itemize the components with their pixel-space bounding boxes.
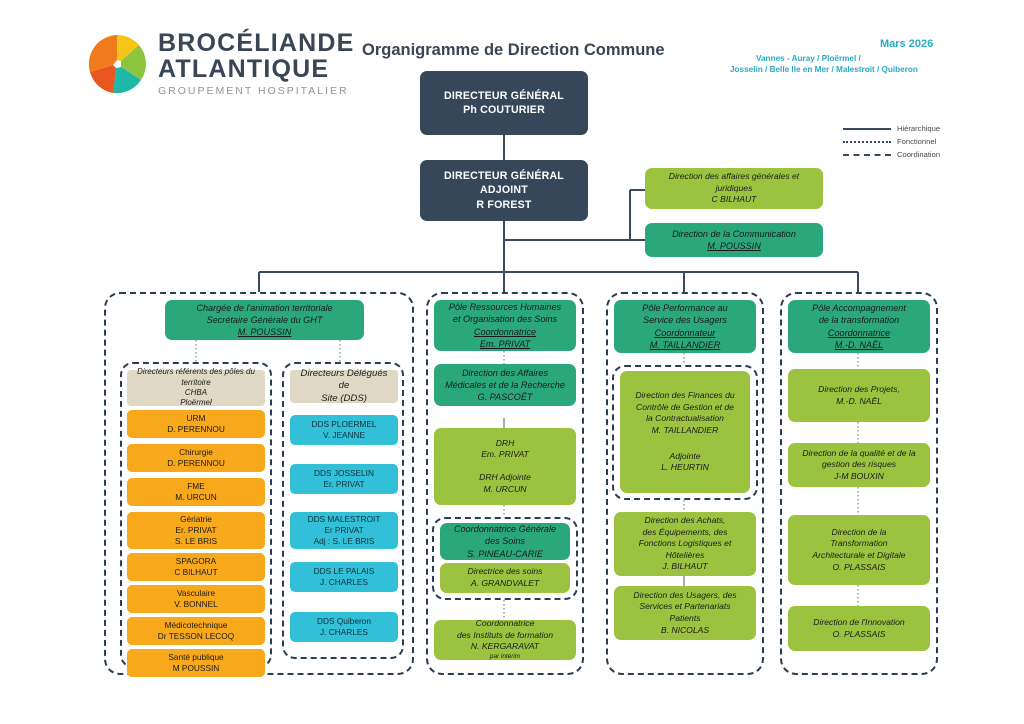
box-direction-finances[interactable]: Direction des Finances du Contrôle de Ge… [620,371,750,493]
box-dds-ploermel[interactable]: DDS PLOERMEL V. JEANNE [290,415,398,445]
dds2-l1: DDS MALESTROIT [294,514,394,525]
fin-spacer [624,437,746,451]
legend-label: Fonctionnel [897,137,936,146]
inst-l3: N. KERGARAVAT [438,641,572,653]
sites-line-2: Josselin / Belle Ile en Mer / Malestroit… [730,65,918,74]
box-direction-affaires-medicales[interactable]: Direction des Affaires Médicales et de l… [434,364,576,406]
c4-2-l2: Transformation [792,538,926,550]
dga-title-1: DIRECTEUR GÉNÉRAL [424,169,584,183]
page-title: Organigramme de Direction Commune [362,41,665,60]
fin-l2: Contrôle de Gestion et de [624,402,746,414]
logo-line-3: GROUPEMENT HOSPITALIER [158,86,355,97]
box-pole-performance-usagers[interactable]: Pôle Performance au Service des Usagers … [614,300,756,353]
col1-head-3: M. POUSSIN [169,326,360,338]
col3-head-2: Service des Usagers [618,314,752,326]
box-referent-urm[interactable]: URM D. PERENNOU [127,410,265,438]
ref5-l1: Vasculaire [131,588,261,599]
staff0-line1: Direction des affaires générales et [649,171,819,183]
ach-l2: des Équipements, des [618,527,752,539]
legend-item-coordination: Coordination [843,148,1018,161]
legend-item-fonctionnel: Fonctionnel [843,135,1018,148]
ref5-l2: V. BONNEL [131,599,261,610]
dds0-l1: DDS PLOERMEL [294,419,394,430]
box-directeur-general[interactable]: DIRECTEUR GÉNÉRAL Ph COUTURIER [420,71,588,135]
soins0-l1: Coordonnatrice Générale [444,523,566,535]
dds4-l1: DDS Quiberon [294,616,394,627]
ach-l3: Fonctions Logistiques et [618,538,752,550]
soins0-l2: des Soins [444,535,566,547]
usa-l4: B. NICOLAS [618,625,752,637]
legend-label: Coordination [897,150,940,159]
dds4-l2: J. CHARLES [294,627,394,638]
c4-1-l1: Direction de la qualité et de la [792,448,926,460]
ref4-l1: SPAGORA [131,556,261,567]
col2-dam-3: G. PASCOËT [438,391,572,403]
col2-dam-1: Direction des Affaires [438,367,572,379]
box-referent-geriatrie[interactable]: Gériatrie Er. PRIVAT S. LE BRIS [127,512,265,549]
c4-0-l1: Direction des Projets, [792,384,926,396]
c4-3-l1: Direction de l'Innovation [792,617,926,629]
staff1-name: M. POUSSIN [649,240,819,252]
ref-col-left: CHBA [137,388,255,398]
ref7-l2: M POUSSIN [131,663,261,674]
box-affaires-generales-juridiques[interactable]: Direction des affaires générales et juri… [645,168,823,209]
fin-l3: la Contractualisation [624,413,746,425]
staff0-line2: juridiques [649,183,819,195]
fin-l6: L. HEURTIN [624,462,746,474]
legend: Hiérarchique Fonctionnel Coordination [843,122,1018,161]
box-referent-sante-publique[interactable]: Santé publique M POUSSIN [127,649,265,677]
col4-head-2: de la transformation [792,314,926,326]
dds0-l2: V. JEANNE [294,430,394,441]
dga-name: R FOREST [424,198,584,212]
staff1-line1: Direction de la Communication [649,228,819,240]
dg-title: DIRECTEUR GÉNÉRAL [424,89,584,103]
legend-label: Hiérarchique [897,124,940,133]
inst-l2: des Instituts de formation [438,630,572,642]
box-dds-le-palais[interactable]: DDS LE PALAIS J. CHARLES [290,562,398,592]
dg-name: Ph COUTURIER [424,103,584,117]
c4-2-l1: Direction de la [792,527,926,539]
soins1-l2: A. GRANDVALET [444,578,566,590]
dga-title-2: ADJOINT [424,183,584,197]
col4-head-3: Coordonnatrice [792,327,926,339]
box-direction-innovation[interactable]: Direction de l'Innovation O. PLASSAIS [788,606,930,651]
ach-l1: Direction des Achats, [618,515,752,527]
col2-dam-2: Médicales et de la Recherche [438,379,572,391]
legend-item-hierarchique: Hiérarchique [843,122,1018,135]
box-drh[interactable]: DRH Em. PRIVAT DRH Adjointe M. URCUN [434,428,576,505]
logo-line-1: BROCÉLIANDE [158,31,355,56]
ref6-l2: Dr TESSON LECOQ [131,631,261,642]
soins0-l3: S. PINEAU-CARIE [444,548,566,560]
box-referent-spagora[interactable]: SPAGORA C BILHAUT [127,553,265,581]
box-pole-accompagnement-transformation[interactable]: Pôle Accompagnement de la transformation… [788,300,930,353]
col2-head-1: Pôle Ressources Humaines [438,301,572,313]
dds1-l2: Er. PRIVAT [294,479,394,490]
flower-wheel-logo-icon [86,33,148,95]
box-chargee-animation-territoriale[interactable]: Chargée de l'animation territoriale Secr… [165,300,364,340]
dds2-l2: Er PRIVAT [294,525,394,536]
drh-spacer [438,461,572,472]
ref0-l2: D. PERENNOU [131,424,261,435]
col2-drh-3: DRH Adjointe [438,472,572,484]
col2-head-3: Coordonnatrice [438,326,572,338]
box-direction-qualite-risques[interactable]: Direction de la qualité et de la gestion… [788,443,930,487]
box-directrice-des-soins[interactable]: Directrice des soins A. GRANDVALET [440,563,570,593]
box-coordonnatrice-generale-soins[interactable]: Coordonnatrice Générale des Soins S. PIN… [440,523,570,560]
fin-l5: Adjointe [624,451,746,463]
col1-head-1: Chargée de l'animation territoriale [169,302,360,314]
ref3-l3: S. LE BRIS [131,536,261,547]
directeurs-referents-header: Directeurs référents des pôles du territ… [127,370,265,406]
box-referent-fme[interactable]: FME M. URCUN [127,478,265,506]
usa-l1: Direction des Usagers, des [618,590,752,602]
inst-l3-suffix: par intérim [438,653,572,662]
box-direction-transformation-architecturale[interactable]: Direction de la Transformation Architect… [788,515,930,585]
box-referent-medicotechnique[interactable]: Médicotechnique Dr TESSON LECOQ [127,617,265,645]
ach-l4: Hôtelières [618,550,752,562]
date-label: Mars 2026 [880,38,933,50]
box-coordonnatrice-instituts-formation[interactable]: Coordonnatrice des Instituts de formatio… [434,620,576,660]
soins1-l1: Directrice des soins [444,566,566,578]
dds-title-1: Directeurs Délégués de [294,368,394,393]
c4-2-l3: Architecturale et Digitale [792,550,926,562]
box-dds-quiberon[interactable]: DDS Quiberon J. CHARLES [290,612,398,642]
col4-head-4: M.-D. NAËL [792,339,926,351]
ref1-l1: Chirurgie [131,447,261,458]
c4-1-l2: gestion des risques [792,459,926,471]
ref-col-right: Ploërmel [137,398,255,408]
c4-0-l2: M.-D. NAËL [792,396,926,408]
ref2-l2: M. URCUN [131,492,261,503]
usa-l2: Services et Partenariats [618,601,752,613]
logo-line-2: ATLANTIQUE [158,57,355,82]
fin-l4: M. TAILLANDIER [624,425,746,437]
staff0-name: C BILHAUT [649,194,819,206]
usa-l3: Patients [618,613,752,625]
box-direction-communication[interactable]: Direction de la Communication M. POUSSIN [645,223,823,257]
ref6-l1: Médicotechnique [131,620,261,631]
box-dds-josselin[interactable]: DDS JOSSELIN Er. PRIVAT [290,464,398,494]
ach-l5: J. BILHAUT [618,561,752,573]
ref3-l2: Er. PRIVAT [131,525,261,536]
sites-line-1: Vannes - Auray / Ploërmel / [756,54,861,63]
dotted-line-icon [843,137,891,147]
dds3-l1: DDS LE PALAIS [294,566,394,577]
dds2-l3: Adj : S. LE BRIS [294,536,394,547]
dds-title-2: Site (DDS) [294,393,394,405]
box-direction-projets[interactable]: Direction des Projets, M.-D. NAËL [788,369,930,422]
box-pole-ressources-humaines[interactable]: Pôle Ressources Humaines et Organisation… [434,300,576,351]
ref1-l2: D. PERENNOU [131,458,261,469]
ref2-l1: FME [131,481,261,492]
col3-head-3: Coordonnateur [618,327,752,339]
col2-drh-1: DRH [438,438,572,450]
box-direction-achats[interactable]: Direction des Achats, des Équipements, d… [614,512,756,576]
solid-line-icon [843,124,891,134]
col2-head-4: Em. PRIVAT [438,338,572,350]
dashed-line-icon [843,150,891,160]
ref3-l1: Gériatrie [131,514,261,525]
box-referent-chirurgie[interactable]: Chirurgie D. PERENNOU [127,444,265,472]
ref0-l1: URM [131,413,261,424]
ref-title-2: territoire [131,378,261,388]
brand-logo: BROCÉLIANDE ATLANTIQUE GROUPEMENT HOSPIT… [86,28,336,100]
col3-head-4: M. TAILLANDIER [618,339,752,351]
col1-head-2: Secrétaire Générale du GHT [169,314,360,326]
col4-head-1: Pôle Accompagnement [792,302,926,314]
c4-3-l2: O. PLASSAIS [792,629,926,641]
dds1-l1: DDS JOSSELIN [294,468,394,479]
dds3-l2: J. CHARLES [294,577,394,588]
fin-l1: Direction des Finances du [624,390,746,402]
col2-head-2: et Organisation des Soins [438,313,572,325]
col2-drh-2: Em. PRIVAT [438,449,572,461]
c4-1-l3: J-M BOUXIN [792,471,926,483]
box-direction-usagers[interactable]: Direction des Usagers, des Services et P… [614,586,756,640]
c4-2-l4: O. PLASSAIS [792,562,926,574]
inst-l1: Coordonnatrice [438,618,572,630]
col3-head-1: Pôle Performance au [618,302,752,314]
ref4-l2: C BILHAUT [131,567,261,578]
box-dds-malestroit[interactable]: DDS MALESTROIT Er PRIVAT Adj : S. LE BRI… [290,512,398,549]
dds-header: Directeurs Délégués de Site (DDS) [290,370,398,403]
box-referent-vasculaire[interactable]: Vasculaire V. BONNEL [127,585,265,613]
box-directeur-general-adjoint[interactable]: DIRECTEUR GÉNÉRAL ADJOINT R FOREST [420,160,588,221]
organigramme-canvas: BROCÉLIANDE ATLANTIQUE GROUPEMENT HOSPIT… [0,0,1024,724]
col2-drh-4: M. URCUN [438,484,572,496]
ref7-l1: Santé publique [131,652,261,663]
ref-title-1: Directeurs référents des pôles du [131,367,261,377]
